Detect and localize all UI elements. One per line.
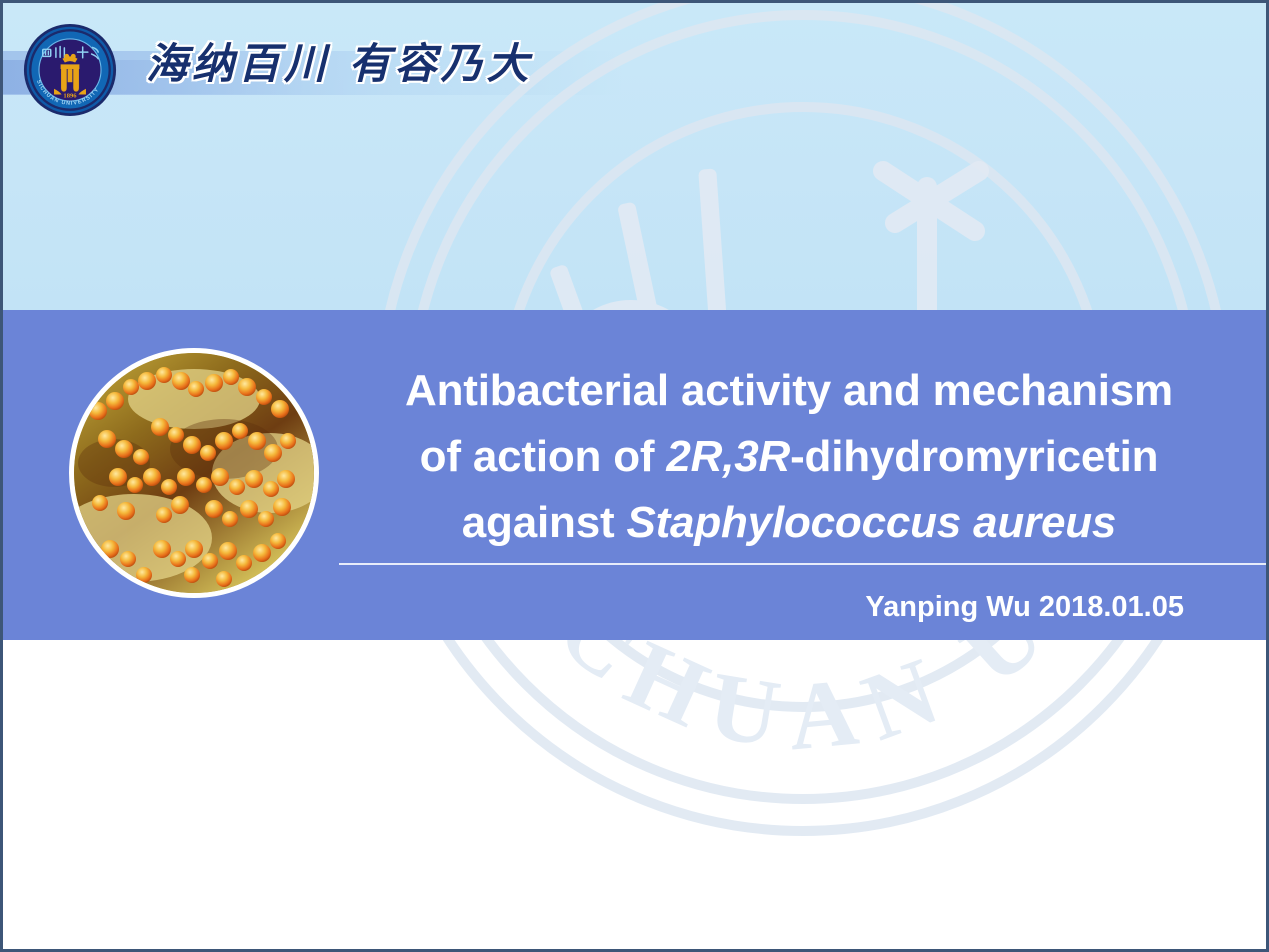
title-line-1: Antibacterial activity and mechanism (339, 358, 1239, 424)
slide-title: Antibacterial activity and mechanism of … (339, 358, 1239, 556)
title-line-2-suffix: -dihydromyricetin (790, 432, 1158, 481)
sichuan-university-logo-icon: 1896 SICHUAN UNIVERSITY (23, 23, 117, 117)
logo-year: 1896 (63, 92, 77, 99)
title-divider-rule (339, 563, 1266, 565)
staphylococcus-aureus-image (69, 348, 319, 598)
university-motto: 海纳百川 有容乃大 (146, 31, 533, 89)
slide-body-background (3, 640, 1266, 949)
staphylococcus-aureus-micrograph (74, 353, 314, 593)
title-line-2-stereochem: 2R,3R (666, 432, 790, 481)
presentation-slide: 1896 SICHUAN UNIVERSITY (0, 0, 1269, 952)
title-line-3-species: Staphylococcus aureus (626, 498, 1116, 547)
title-line-2: of action of 2R,3R-dihydromyricetin (339, 424, 1239, 490)
title-line-3-prefix: against (462, 498, 627, 547)
title-line-2-prefix: of action of (420, 432, 667, 481)
title-line-3: against Staphylococcus aureus (339, 490, 1239, 556)
author-and-date: Yanping Wu 2018.01.05 (865, 591, 1184, 624)
